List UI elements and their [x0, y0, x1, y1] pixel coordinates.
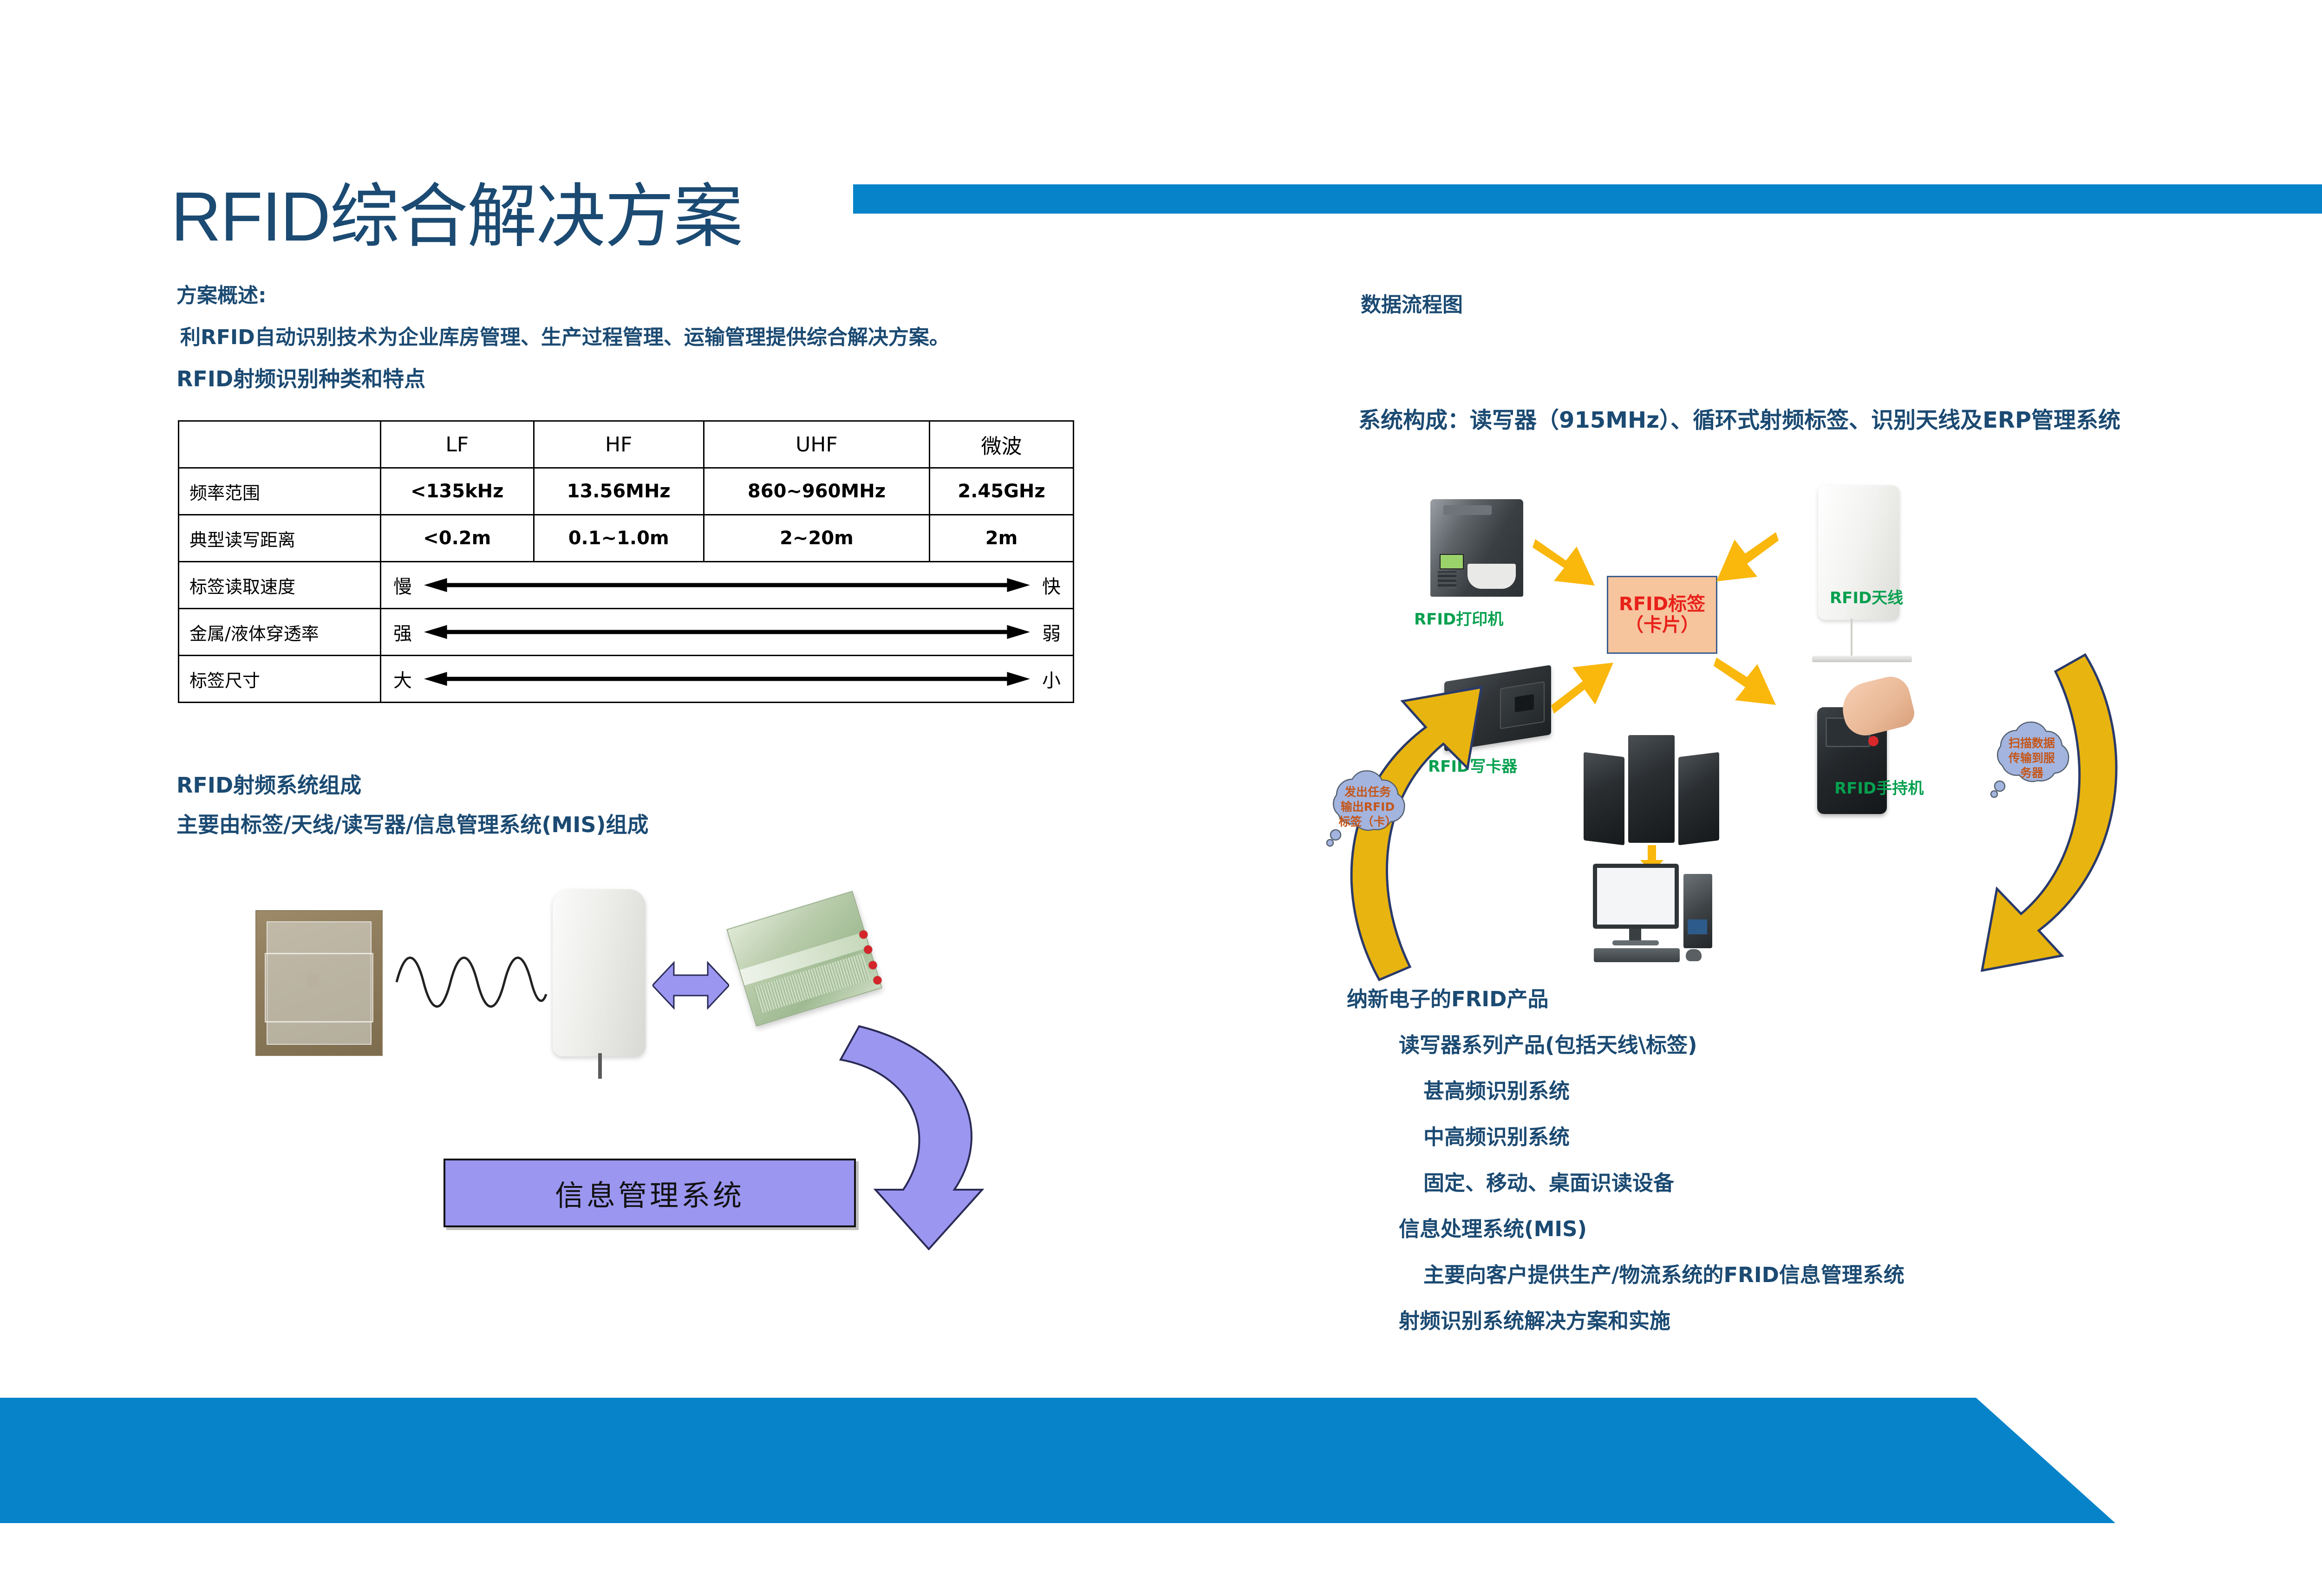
cell-freq-microwave: 2.45GHz	[930, 468, 1074, 515]
printer-lid	[1443, 505, 1492, 515]
rfid-tag-center-box: RFID标签 （卡片）	[1607, 576, 1717, 654]
antenna-label: RFID天线	[1830, 585, 1903, 608]
dataflow-heading: 数据流程图	[1361, 288, 1463, 318]
page-title-cn: 综合解决方案	[330, 176, 742, 257]
reader-port	[872, 975, 882, 985]
arrow-printer-to-tag-icon	[1533, 536, 1598, 592]
keyboard	[1594, 948, 1680, 962]
table-row: 金属/液体穿透率 强 弱	[179, 609, 1074, 656]
arrow-left-label-speed: 慢	[393, 572, 412, 599]
list-item: 中高频识别系统	[1423, 1120, 1905, 1150]
cloud-left-line1: 发出任务	[1314, 785, 1421, 800]
cell-freq-uhf: 860~960MHz	[704, 468, 929, 515]
cloud-callout-left: 发出任务 输出RFID 标签（卡）	[1314, 766, 1421, 850]
rfid-comparison-table: LF HF UHF 微波 频率范围 <135kHz 13.56MHz 860~9…	[178, 420, 1074, 703]
mis-system-box: 信息管理系统	[444, 1159, 856, 1227]
double-arrow-icon	[424, 624, 1030, 640]
types-heading: RFID射频识别种类和特点	[176, 362, 425, 393]
list-item: 固定、移动、桌面识读设备	[1423, 1166, 1905, 1196]
cloud-right-line2: 传输到服	[1978, 751, 2085, 766]
list-item: 甚高频识别系统	[1423, 1074, 1905, 1104]
rfid-tag-photo	[255, 910, 383, 1056]
printer-output-slot	[1468, 564, 1516, 589]
col-head-hf: HF	[534, 421, 704, 468]
server-unit	[1628, 735, 1675, 843]
cloud-right-line1: 扫描数据	[1978, 736, 2085, 751]
rfid-reader-photo	[726, 891, 882, 1026]
antenna-cable	[1851, 619, 1852, 656]
arrow-left-label-penetration: 强	[393, 619, 412, 645]
system-parts-text: 主要由标签/天线/读写器/信息管理系统(MIS)组成	[176, 808, 648, 839]
monitor-screen	[1597, 868, 1675, 925]
tag-box-line2: （卡片）	[1625, 615, 1699, 636]
printer-label: RFID打印机	[1414, 606, 1503, 629]
radio-wave-icon	[395, 950, 548, 1015]
tag-box-line1: RFID标签	[1619, 594, 1705, 615]
bottom-blue-band	[0, 1398, 2322, 1523]
list-item: 读写器系列产品(包括天线\标签)	[1399, 1028, 1905, 1058]
col-head-microwave: 微波	[930, 421, 1074, 468]
antenna-connector	[598, 1053, 602, 1079]
server-rack-image	[1584, 734, 1718, 843]
arrow-right-label-size: 小	[1042, 665, 1061, 692]
product-list: 纳新电子的FRID产品 读写器系列产品(包括天线\标签) 甚高频识别系统 中高频…	[1347, 982, 1905, 1350]
list-item: 信息处理系统(MIS)	[1399, 1212, 1905, 1242]
table-row: 频率范围 <135kHz 13.56MHz 860~960MHz 2.45GHz	[179, 468, 1074, 515]
monitor-base	[1612, 940, 1659, 945]
printer-keypad	[1438, 571, 1456, 589]
col-head-lf: LF	[381, 421, 534, 468]
row-head-read-distance: 典型读写距离	[179, 515, 381, 562]
cloud-right-text: 扫描数据 传输到服 务器	[1978, 736, 2085, 781]
monitor	[1593, 864, 1679, 929]
right-circulation-arc-icon	[1885, 645, 2136, 989]
list-item: 主要向客户提供生产/物流系统的FRID信息管理系统	[1423, 1258, 1905, 1288]
cell-dist-lf: <0.2m	[381, 515, 534, 562]
list-item: 纳新电子的FRID产品	[1347, 982, 1905, 1012]
cell-freq-lf: <135kHz	[381, 468, 534, 515]
gradient-arrow-penetration: 强 弱	[381, 609, 1074, 656]
cloud-callout-right: 扫描数据 传输到服 务器	[1978, 717, 2085, 801]
table-row: 标签尺寸 大 小	[179, 656, 1074, 703]
overview-body: 利RFID自动识别技术为企业库房管理、生产过程管理、运输管理提供综合解决方案。	[180, 320, 950, 350]
arrow-right-label-penetration: 弱	[1042, 619, 1061, 645]
overview-label: 方案概述:	[176, 279, 267, 308]
pc-tower-panel	[1688, 919, 1707, 934]
rfid-antenna-photo	[553, 889, 646, 1056]
handheld-scan-button	[1868, 736, 1878, 746]
row-head-tag-size: 标签尺寸	[179, 656, 381, 703]
table-row: 典型读写距离 <0.2m 0.1~1.0m 2~20m 2m	[179, 515, 1074, 562]
server-unit	[1584, 752, 1624, 846]
cell-dist-uhf: 2~20m	[704, 515, 929, 562]
mis-box-label: 信息管理系统	[555, 1172, 744, 1214]
cloud-right-line3: 务器	[1978, 766, 2085, 781]
top-blue-banner	[853, 184, 2322, 214]
gradient-arrow-read-speed: 慢 快	[381, 562, 1074, 609]
col-head-uhf: UHF	[704, 421, 929, 468]
gradient-arrow-tag-size: 大 小	[381, 656, 1074, 703]
tag-brand-logo	[264, 934, 315, 946]
tag-chip	[307, 974, 319, 986]
pc-tower	[1683, 874, 1712, 948]
cell-dist-microwave: 2m	[930, 515, 1074, 562]
arrow-right-label-speed: 快	[1042, 572, 1061, 599]
row-head-read-speed: 标签读取速度	[179, 562, 381, 609]
row-head-penetration: 金属/液体穿透率	[179, 609, 381, 656]
monitor-stand	[1629, 929, 1641, 941]
desktop-computer-image	[1588, 864, 1718, 964]
cloud-left-line2: 输出RFID	[1314, 800, 1421, 814]
system-composition-text: 系统构成：读写器（915MHz）、循环式射频标签、识别天线及ERP管理系统	[1358, 402, 2120, 434]
cell-freq-hf: 13.56MHz	[534, 468, 704, 515]
rfid-printer-image	[1430, 499, 1523, 597]
arrow-tag-to-handheld-icon	[1714, 655, 1779, 715]
tag-antenna-coil	[265, 953, 373, 1023]
reader-port	[867, 960, 878, 970]
cell-dist-hf: 0.1~1.0m	[534, 515, 704, 562]
row-head-freq-range: 频率范围	[179, 468, 381, 515]
bidirectional-arrow-icon	[652, 959, 729, 1012]
double-arrow-icon	[424, 671, 1030, 687]
table-row: 标签读取速度 慢 快	[179, 562, 1074, 609]
cloud-left-text: 发出任务 输出RFID 标签（卡）	[1314, 785, 1421, 829]
printer-screen	[1440, 554, 1464, 569]
slide-page: RFID综合解决方案 方案概述: 利RFID自动识别技术为企业库房管理、生产过程…	[0, 0, 2322, 1596]
page-title-en: RFID	[171, 177, 330, 255]
arrow-left-label-size: 大	[393, 665, 412, 692]
page-title: RFID综合解决方案	[171, 180, 742, 254]
server-unit	[1678, 752, 1719, 846]
table-header-row: LF HF UHF 微波	[179, 421, 1074, 468]
double-arrow-icon	[424, 577, 1030, 593]
system-compose-heading: RFID射频系统组成	[176, 769, 361, 799]
col-head-blank	[179, 421, 381, 468]
mouse	[1686, 949, 1702, 961]
list-item: 射频识别系统解决方案和实施	[1399, 1304, 1905, 1334]
cloud-left-line3: 标签（卡）	[1314, 814, 1421, 829]
arrow-tag-to-antenna-icon	[1714, 529, 1779, 590]
